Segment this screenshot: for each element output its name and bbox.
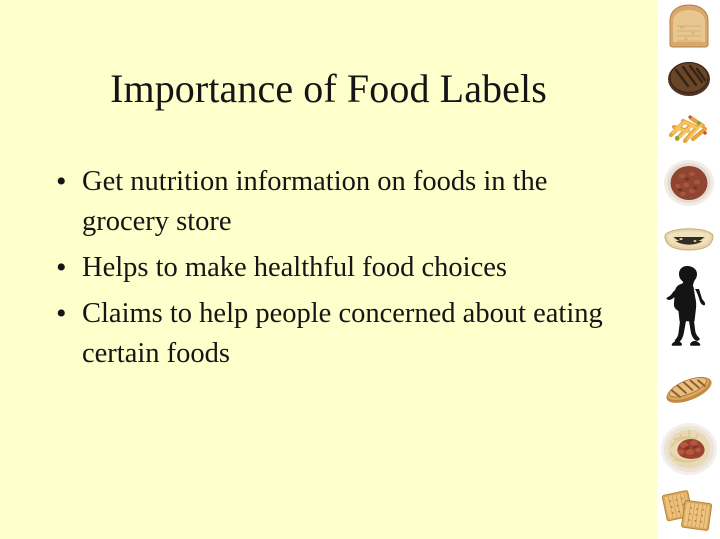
bullet-point-icon: • [52, 162, 82, 202]
taco-shell-icon [657, 220, 720, 264]
bullet-point-icon: • [52, 294, 82, 334]
bread-slice-icon [657, 2, 720, 50]
bullet-point-icon: • [52, 248, 82, 288]
food-image-strip [657, 0, 720, 539]
bullet-list: • Get nutrition information on foods in … [52, 162, 642, 380]
crackers-icon [657, 487, 720, 537]
pasta-pile-icon [657, 104, 720, 150]
page-title: Importance of Food Labels [0, 68, 657, 110]
list-item: • Get nutrition information on foods in … [52, 162, 642, 242]
grilled-bread-icon [657, 366, 720, 414]
list-item-label: Get nutrition information on foods in th… [82, 162, 612, 242]
walking-person-icon [657, 262, 720, 348]
grilled-patty-icon [657, 57, 720, 101]
list-item-label: Helps to make healthful food choices [82, 248, 612, 288]
list-item-label: Claims to help people concerned about ea… [82, 294, 612, 374]
list-item: • Helps to make healthful food choices [52, 248, 642, 288]
spaghetti-bowl-icon [657, 420, 720, 478]
bean-bowl-icon [657, 157, 720, 209]
list-item: • Claims to help people concerned about … [52, 294, 642, 374]
presentation-slide: Importance of Food Labels • Get nutritio… [0, 0, 720, 539]
